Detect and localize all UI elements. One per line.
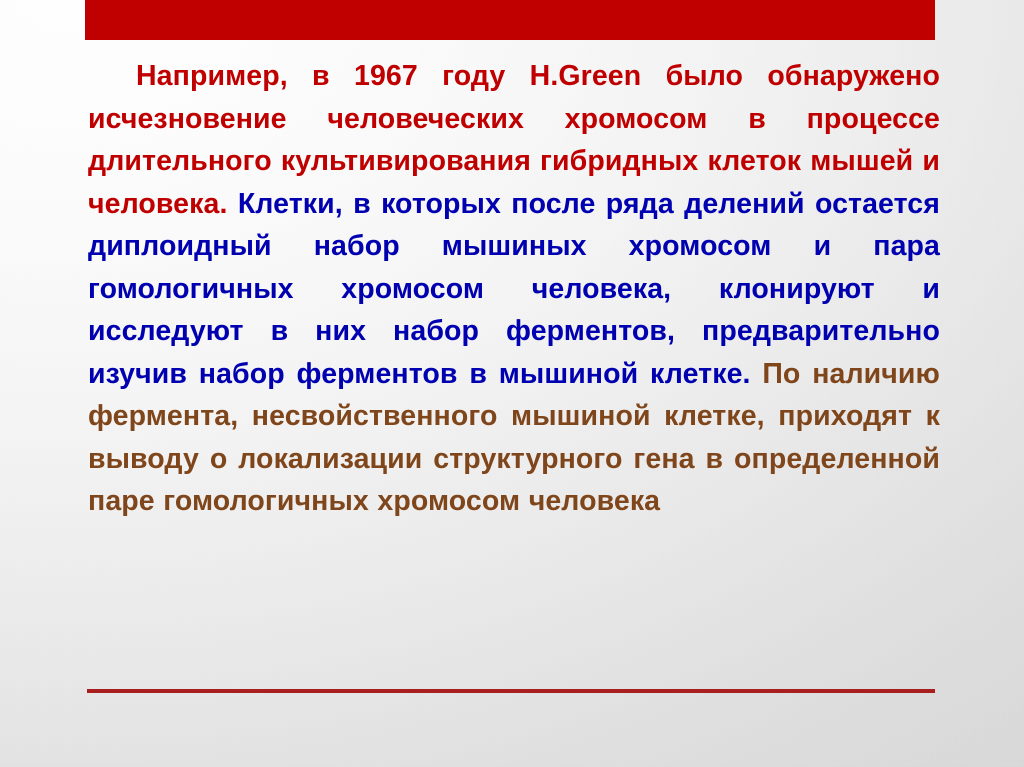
slide-canvas: Например, в 1967 году H.Green было обнар…	[0, 0, 1024, 767]
slide-body-text: Например, в 1967 году H.Green было обнар…	[88, 55, 940, 523]
top-accent-bar	[85, 0, 935, 40]
bottom-divider-rule	[87, 689, 935, 693]
